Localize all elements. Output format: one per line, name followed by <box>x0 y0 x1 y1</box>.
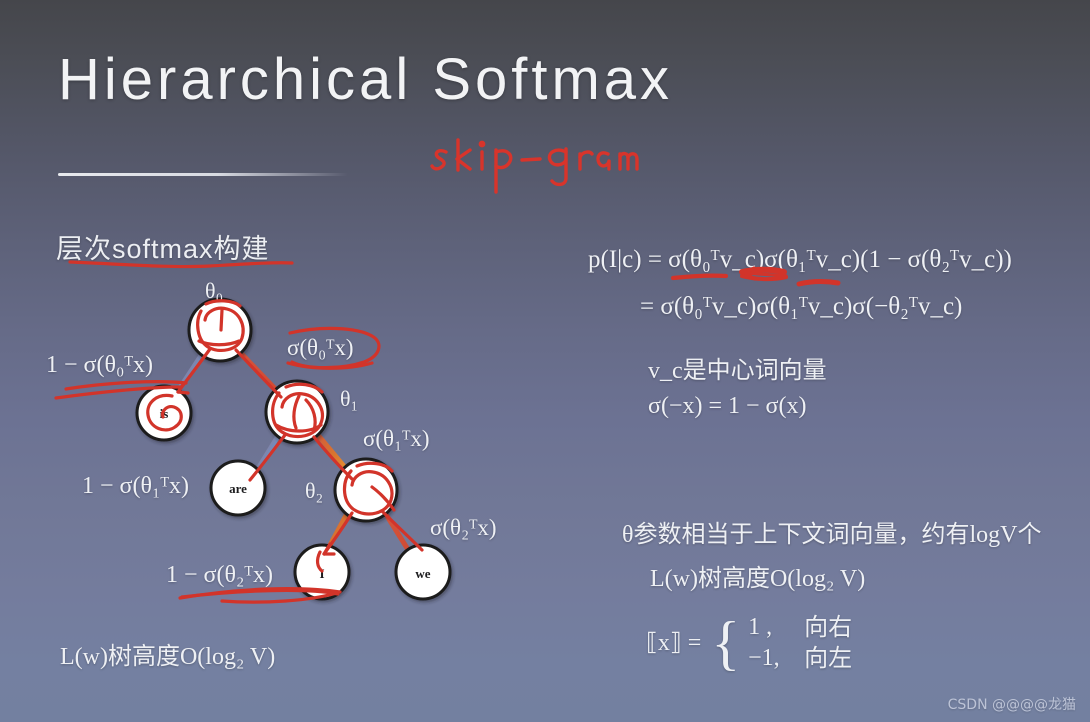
tree-height-note-left: L(w)树高度O(log₂ V) <box>60 636 275 671</box>
page-title: Hierarchical Softmax <box>58 46 673 113</box>
indicator-meaning-left: 向左 <box>804 643 852 674</box>
huffman-tree-diagram: is are I we <box>0 260 560 620</box>
equation-line-2: = σ(θ₀ᵀv_c)σ(θ₁ᵀv_c)σ(−θ₂ᵀv_c) <box>640 293 962 321</box>
indicator-value-right: 1 , <box>748 612 804 643</box>
note-theta-parameters: θ参数相当于上下文词向量，约有logV个 <box>622 514 1042 549</box>
indicator-function-block: ⟦x⟧ = { 1 , 向右 −1, 向左 <box>646 612 852 673</box>
tree-node-inner-2 <box>335 459 397 521</box>
note-tree-height: L(w)树高度O(log₂ V) <box>650 558 865 593</box>
theta-2-label: θ₂ <box>305 478 323 504</box>
leaf-label-we: we <box>415 566 430 581</box>
leaf-label-I: I <box>319 566 324 581</box>
handwritten-skip-gram-annotation: skip-gram <box>430 126 650 196</box>
note-sigma-identity: σ(−x) = 1 − σ(x) <box>648 393 806 420</box>
tree-node-root <box>189 299 251 361</box>
leaf-label-is: is <box>160 406 169 421</box>
indicator-row-left: −1, 向左 <box>748 643 852 674</box>
title-divider <box>58 173 348 176</box>
edge-label-right-1: σ(θ₁ᵀx) <box>363 426 430 452</box>
theta-1-label: θ₁ <box>340 386 358 412</box>
edge-label-right-0: σ(θ₀ᵀx) <box>287 335 354 361</box>
tree-node-inner-1 <box>266 381 328 443</box>
indicator-value-left: −1, <box>748 643 804 674</box>
indicator-row-right: 1 , 向右 <box>748 612 852 643</box>
indicator-lhs: ⟦x⟧ = <box>646 628 701 657</box>
indicator-meaning-right: 向右 <box>804 612 852 643</box>
leaf-label-are: are <box>229 481 247 496</box>
edge-label-left-0: 1 − σ(θ₀ᵀx) <box>46 352 153 379</box>
equation-line-1: p(I|c) = σ(θ₀ᵀv_c)σ(θ₁ᵀv_c)(1 − σ(θ₂ᵀv_c… <box>588 246 1012 274</box>
left-brace-glyph: { <box>711 620 740 666</box>
edge-label-right-2: σ(θ₂ᵀx) <box>430 515 497 541</box>
slide-canvas: Hierarchical Softmax skip-gram 层次softmax… <box>0 0 1090 722</box>
note-center-word-vector: v_c是中心词向量 <box>648 350 827 385</box>
edge-label-left-1: 1 − σ(θ₁ᵀx) <box>82 473 189 500</box>
theta-0-label: θ₀ <box>205 278 223 304</box>
edge-label-left-2: 1 − σ(θ₂ᵀx) <box>166 562 273 589</box>
csdn-watermark: CSDN @@@@龙猫 <box>948 694 1076 714</box>
